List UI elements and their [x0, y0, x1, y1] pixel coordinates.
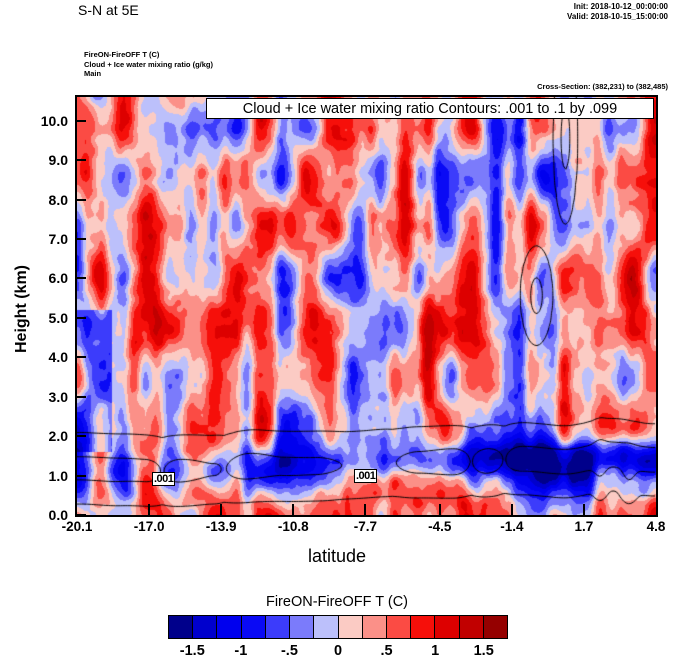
colorbar-segment: [435, 616, 459, 638]
colorbar-segment: [266, 616, 290, 638]
colorbar-segment: [339, 616, 363, 638]
colorbar-segment: [460, 616, 484, 638]
colorbar-tick-label: .5: [381, 643, 393, 659]
colorbar-segment: [387, 616, 411, 638]
colorbar-title: FireON-FireOFF T (C): [0, 594, 674, 610]
y-axis-tick-label: 3.0: [14, 389, 68, 405]
variable-line-2: Cloud + Ice water mixing ratio (g/kg): [84, 60, 213, 70]
x-axis-tick-label: -4.5: [428, 519, 451, 534]
colorbar-segment: [193, 616, 217, 638]
variable-line-1: FireON-FireOFF T (C): [84, 50, 213, 60]
y-axis-tick-label: 2.0: [14, 428, 68, 444]
colorbar-tick-label: 0: [334, 643, 342, 659]
variable-line-3: Main: [84, 69, 213, 79]
colorbar-tick-label: 1.5: [474, 643, 494, 659]
colorbar-segment: [290, 616, 314, 638]
colorbar-tick-label: -1: [234, 643, 247, 659]
y-axis-tick-label: 8.0: [14, 192, 68, 208]
colorbar-segment: [169, 616, 193, 638]
init-time: Init: 2018-10-12_00:00:00: [567, 2, 668, 12]
y-axis-tick-label: 9.0: [14, 152, 68, 168]
cross-section-label: Cross-Section: (382,231) to (382,485): [537, 82, 668, 91]
x-axis-tick-label: -10.8: [278, 519, 309, 534]
colorbar-labels: -1.5-1-.50.511.5: [0, 643, 674, 665]
colorbar: [168, 615, 508, 639]
y-axis-title: Height (km): [13, 249, 31, 369]
init-valid-times: Init: 2018-10-12_00:00:00 Valid: 2018-10…: [567, 2, 668, 22]
y-axis-tick-label: 7.0: [14, 231, 68, 247]
y-axis-tick-label: 10.0: [14, 113, 68, 129]
y-axis-tick-label: 1.0: [14, 468, 68, 484]
page-title: S-N at 5E: [78, 2, 139, 18]
x-axis-title: latitude: [0, 546, 674, 567]
colorbar-segment: [411, 616, 435, 638]
colorbar-segment: [484, 616, 507, 638]
y-axis-labels: 0.01.02.03.04.05.06.07.08.09.010.0: [0, 95, 674, 517]
colorbar-tick-label: -1.5: [180, 643, 205, 659]
x-axis-labels: -20.1-17.0-13.9-10.8-7.7-4.5-1.41.74.8: [0, 519, 674, 541]
colorbar-segment: [363, 616, 387, 638]
colorbar-tick-label: 1: [431, 643, 439, 659]
x-axis-tick-label: 4.8: [647, 519, 666, 534]
x-axis-tick-label: -7.7: [354, 519, 377, 534]
x-axis-tick-label: -13.9: [206, 519, 237, 534]
colorbar-tick-label: -.5: [281, 643, 298, 659]
colorbar-segment: [242, 616, 266, 638]
x-axis-tick-label: -1.4: [500, 519, 523, 534]
valid-time: Valid: 2018-10-15_15:00:00: [567, 12, 668, 22]
x-axis-tick-label: -17.0: [134, 519, 165, 534]
colorbar-segment: [314, 616, 338, 638]
colorbar-segment: [217, 616, 241, 638]
x-axis-tick-label: -20.1: [62, 519, 93, 534]
x-axis-tick-label: 1.7: [575, 519, 594, 534]
variable-annotation: FireON-FireOFF T (C) Cloud + Ice water m…: [84, 50, 213, 79]
